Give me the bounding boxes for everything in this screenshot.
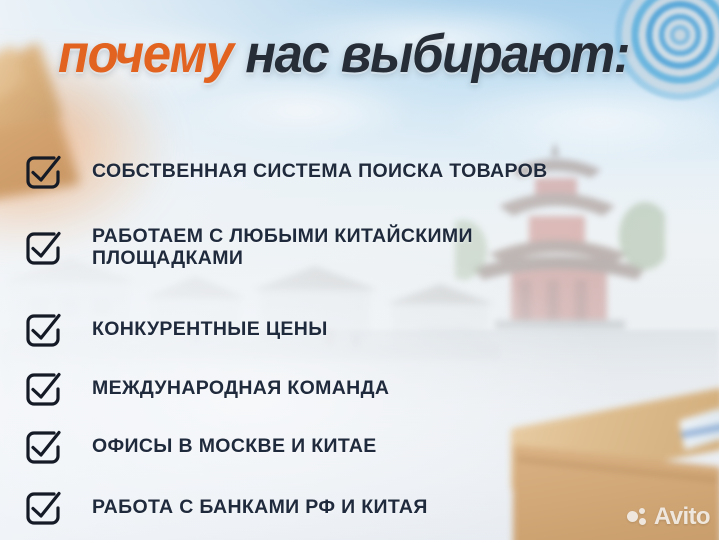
checkbox-check-icon: [24, 489, 62, 527]
list-item-label: МЕЖДУНАРОДНАЯ КОМАНДА: [92, 378, 389, 400]
list-item: СОБСТВЕННАЯ СИСТЕМА ПОИСКА ТОВАРОВ: [24, 153, 548, 191]
list-item-label: СОБСТВЕННАЯ СИСТЕМА ПОИСКА ТОВАРОВ: [92, 161, 548, 183]
checkbox-check-icon: [24, 311, 62, 349]
list-item: КОНКУРЕНТНЫЕ ЦЕНЫ: [24, 311, 328, 349]
list-item: МЕЖДУНАРОДНАЯ КОМАНДА: [24, 370, 389, 408]
list-item: ОФИСЫ В МОСКВЕ И КИТАЕ: [24, 428, 377, 466]
avito-dots-icon: [627, 507, 649, 527]
title-highlight-word: почему: [58, 24, 233, 84]
list-item-label: КОНКУРЕНТНЫЕ ЦЕНЫ: [92, 319, 328, 341]
promo-poster: почему нас выбирают: СОБСТВЕННАЯ СИСТЕМА…: [0, 0, 719, 540]
list-item: РАБОТАЕМ С ЛЮБЫМИ КИТАЙСКИМИ ПЛОЩАДКАМИ: [24, 226, 473, 270]
checkbox-check-icon: [24, 428, 62, 466]
checkbox-check-icon: [24, 229, 62, 267]
list-item-label: РАБОТАЕМ С ЛЮБЫМИ КИТАЙСКИМИ ПЛОЩАДКАМИ: [92, 226, 473, 270]
checkbox-check-icon: [24, 153, 62, 191]
list-item-label: РАБОТА С БАНКАМИ РФ И КИТАЯ: [92, 497, 428, 519]
avito-watermark: Avito: [627, 503, 710, 531]
list-item-label: ОФИСЫ В МОСКВЕ И КИТАЕ: [92, 436, 377, 458]
page-title: почему нас выбирают:: [58, 27, 629, 81]
avito-brand-label: Avito: [654, 503, 710, 531]
list-item: РАБОТА С БАНКАМИ РФ И КИТАЯ: [24, 489, 428, 527]
checkbox-check-icon: [24, 370, 62, 408]
title-rest: нас выбирают:: [233, 24, 630, 84]
